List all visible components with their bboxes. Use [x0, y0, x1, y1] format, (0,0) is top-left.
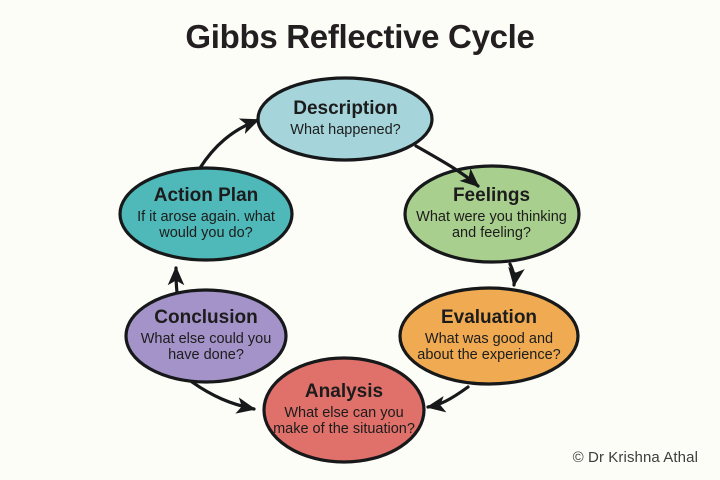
node-analysis-question: What else can you make of the situation?	[264, 405, 424, 438]
gibbs-reflective-cycle-diagram: Gibbs Reflective Cycle Description What …	[0, 0, 720, 480]
node-evaluation[interactable]: Evaluation What was good and about the e…	[400, 288, 578, 384]
arrow-evaluation-to-analysis	[428, 387, 468, 407]
node-description-question: What happened?	[284, 122, 406, 139]
arrow-feelings-to-evaluation	[510, 264, 514, 285]
node-action-plan[interactable]: Action Plan If it arose again. what woul…	[120, 168, 292, 260]
node-description[interactable]: Description What happened?	[258, 78, 433, 160]
arrow-action-plan-to-description	[200, 120, 258, 168]
node-action-plan-label: Action Plan	[154, 186, 259, 207]
credit-line: © Dr Krishna Athal	[573, 449, 698, 466]
node-feelings[interactable]: Feelings What were you thinking and feel…	[404, 166, 579, 262]
node-evaluation-label: Evaluation	[441, 308, 537, 329]
node-conclusion-question: What else could you have done?	[126, 331, 286, 364]
node-analysis[interactable]: Analysis What else can you make of the s…	[264, 358, 424, 462]
node-conclusion[interactable]: Conclusion What else could you have done…	[126, 290, 286, 382]
node-action-plan-question: If it arose again. what would you do?	[120, 209, 292, 242]
node-analysis-label: Analysis	[305, 382, 383, 403]
node-conclusion-label: Conclusion	[154, 308, 257, 329]
arrow-analysis-to-conclusion	[192, 382, 254, 409]
node-evaluation-question: What was good and about the experience?	[400, 331, 578, 364]
node-feelings-label: Feelings	[453, 186, 530, 207]
node-feelings-question: What were you thinking and feeling?	[404, 209, 579, 242]
node-description-label: Description	[293, 99, 398, 120]
arrow-conclusion-to-action-plan	[176, 268, 177, 292]
